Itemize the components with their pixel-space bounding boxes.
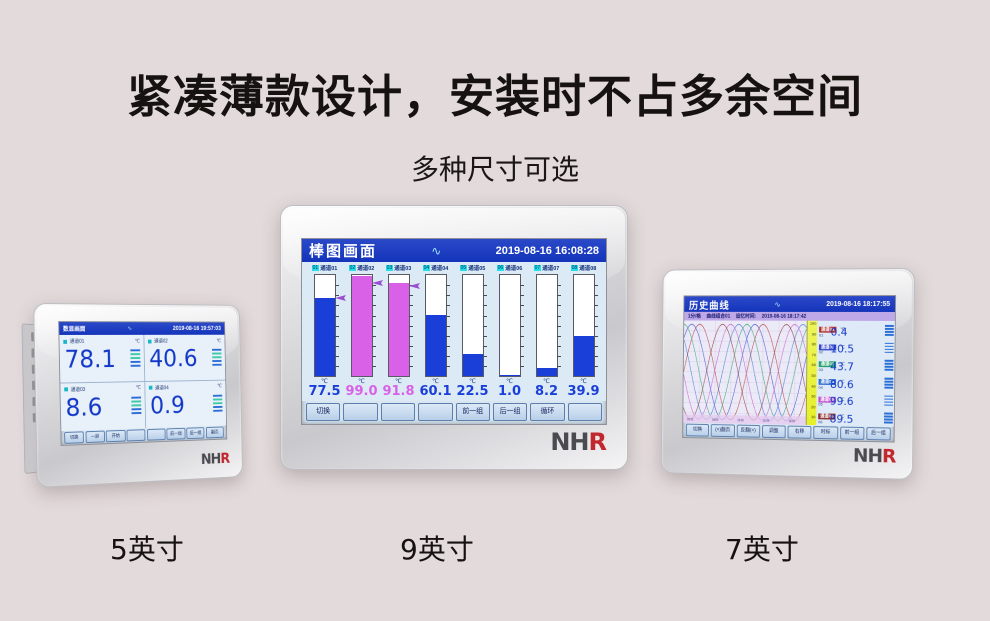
bar-fill — [389, 283, 409, 376]
bar-tube — [573, 274, 595, 377]
button-7inch-5[interactable]: 时标 — [813, 426, 837, 439]
button-5inch-3[interactable] — [127, 429, 146, 441]
bar-fill — [463, 354, 483, 377]
screen-title-7inch: 历史曲线 — [689, 297, 730, 312]
status-dot-icon — [148, 339, 152, 343]
bar-value: 99.0 — [345, 385, 377, 399]
bar-ticks — [409, 275, 417, 376]
brand-logo-9inch: NHR — [550, 428, 606, 456]
channel-name: 通道07 — [542, 264, 559, 272]
bar-value: 39.9 — [567, 385, 599, 399]
device-9inch-screen: 棒图画面 ∿ 2019-08-16 16:08:28 01通道01℃77.502… — [302, 239, 606, 424]
bar-ticks — [557, 275, 565, 376]
button-9inch-1[interactable] — [343, 403, 377, 421]
bar-value: 22.5 — [456, 385, 488, 399]
bar-tube — [388, 274, 410, 377]
channel-value: 0.4 — [831, 325, 848, 338]
button-9inch-7[interactable] — [568, 403, 602, 421]
button-9inch-0[interactable]: 切换 — [306, 403, 340, 421]
bar-header: 02通道02 — [343, 264, 380, 272]
status-dot-icon — [149, 386, 153, 390]
wave-logo-icon: ∿ — [377, 244, 496, 258]
page-headline: 紧凑薄款设计，安装时不占多余空间 — [0, 60, 990, 125]
y-tick-10: 10 — [811, 415, 815, 420]
digital-cell: 通道04℃0.9 — [145, 380, 226, 428]
datetime-5inch: 2019-08-16 19:57:03 — [173, 326, 221, 332]
bar-ticks — [594, 275, 602, 376]
digital-cell: 通道03℃8.6 — [60, 382, 146, 432]
bar-column: 07通道07℃8.2 — [528, 264, 565, 399]
digital-cell-header: 通道03℃ — [64, 385, 141, 393]
button-9inch-5[interactable]: 后一组 — [493, 403, 527, 421]
bar-tube — [462, 274, 484, 377]
button-9inch-6[interactable]: 循环 — [530, 403, 564, 421]
bar-column: 02通道02℃99.0 — [343, 264, 380, 399]
bar-tube — [314, 274, 336, 377]
channel-index: 03 — [819, 367, 823, 372]
button-5inch-7[interactable]: 翻页 — [206, 426, 224, 438]
bar-column: 03通道03℃91.8 — [380, 264, 417, 399]
curve-group-label: 曲线组合01 — [706, 313, 730, 320]
bar-header: 01通道01 — [306, 264, 343, 272]
bar-header: 07通道07 — [528, 264, 565, 272]
level-bars-icon — [131, 396, 141, 416]
bar-ticks — [446, 275, 454, 376]
channel-name: 通道04 — [431, 264, 448, 272]
titlebar-5inch: 数显画面 ∿ 2019-08-16 19:57:03 — [59, 322, 224, 335]
bar-ticks — [483, 275, 491, 376]
channel-index: 06 — [497, 265, 505, 271]
channel-index: 01 — [819, 332, 823, 337]
button-7inch-3[interactable]: 调整 — [762, 425, 786, 438]
brand-logo-7inch: NHR — [853, 445, 896, 468]
bar-fill — [574, 336, 594, 376]
bar-fill — [352, 276, 372, 376]
unit-label: ℃ — [135, 338, 140, 344]
bar-value: 91.8 — [382, 385, 414, 399]
button-5inch-4[interactable] — [147, 428, 166, 440]
channel-value: 10.5 — [830, 343, 854, 356]
y-tick-90: 90 — [812, 331, 816, 336]
wave-logo-icon: ∿ — [730, 300, 827, 309]
time-scale-label: 1分/格 — [688, 313, 701, 320]
y-tick-20: 20 — [811, 404, 815, 409]
button-7inch-2[interactable]: 反翻(×) — [736, 424, 760, 437]
device-7inch-screen: 历史曲线 ∿ 2019-08-16 18:17:55 1分/格 曲线组合01 追… — [683, 296, 895, 442]
bar-column: 06通道06℃1.0 — [491, 264, 528, 399]
bar-value: 77.5 — [308, 385, 340, 399]
unit-label: ℃ — [216, 338, 221, 344]
bar-column: 08通道08℃39.9 — [565, 264, 602, 399]
channel-row: 通道03℃0343.7 — [817, 356, 895, 374]
digital-cell: 通道02℃40.6 — [144, 335, 225, 382]
screen-title-9inch: 棒图画面 — [309, 240, 377, 261]
button-9inch-2[interactable] — [381, 403, 415, 421]
channel-name: 通道06 — [505, 264, 522, 272]
channel-value: 0.9 — [150, 392, 185, 417]
button-9inch-3[interactable] — [418, 403, 452, 421]
channel-index: 07 — [534, 265, 542, 271]
bar-fill — [426, 315, 446, 376]
button-7inch-0[interactable]: 切换 — [686, 423, 709, 436]
button-7inch-1[interactable]: (×)翻页 — [711, 424, 735, 437]
bar-ticks — [520, 275, 528, 376]
channel-index: 03 — [386, 265, 394, 271]
level-bars-icon — [884, 413, 893, 425]
digital-display-grid: 通道01℃78.1通道02℃40.6通道03℃8.6通道04℃0.9 — [59, 335, 226, 431]
bar-column: 04通道04℃60.1 — [417, 264, 454, 399]
button-5inch-2[interactable]: 开始 — [106, 430, 125, 442]
y-tick-80: 80 — [812, 342, 816, 347]
level-bars-icon — [885, 343, 894, 355]
channel-index: 02 — [819, 350, 823, 355]
device-5inch-screen: 数显画面 ∿ 2019-08-16 19:57:03 通道01℃78.1通道02… — [59, 322, 226, 445]
y-tick-40: 40 — [811, 383, 815, 388]
channel-index: 04 — [423, 265, 431, 271]
device-5inch: 数显画面 ∿ 2019-08-16 19:57:03 通道01℃78.1通道02… — [33, 303, 243, 488]
bar-column: 05通道05℃22.5 — [454, 264, 491, 399]
level-bars-icon — [885, 360, 894, 372]
caption-5inch: 5英寸 — [110, 528, 184, 568]
level-bars-icon — [130, 349, 140, 368]
bar-value: 60.1 — [419, 385, 451, 399]
channel-index: 05 — [460, 265, 468, 271]
channel-name: 通道03 — [394, 264, 411, 272]
recall-time: 2019-08-16 18:17:42 — [762, 313, 807, 319]
page-subheadline: 多种尺寸可选 — [0, 148, 990, 188]
bar-fill — [315, 298, 335, 377]
channel-index: 02 — [349, 265, 357, 271]
channel-value: 80.6 — [830, 378, 854, 391]
button-7inch-7[interactable]: 后一组 — [866, 427, 891, 440]
y-tick-30: 30 — [811, 394, 815, 399]
channel-value: 78.1 — [64, 347, 116, 372]
channel-row: 通道02℃0210.5 — [817, 338, 895, 356]
datetime-7inch: 2019-08-16 18:17:55 — [826, 301, 890, 308]
channel-index: 05 — [818, 402, 822, 407]
datetime-9inch: 2019-08-16 16:08:28 — [496, 245, 599, 257]
channel-index: 01 — [312, 265, 320, 271]
bar-ticks — [372, 275, 380, 376]
level-bars-icon — [885, 325, 894, 337]
level-bars-icon — [213, 394, 223, 413]
bar-header: 06通道06 — [491, 264, 528, 272]
channel-name: 通道04 — [155, 384, 169, 391]
bar-column: 01通道01℃77.5 — [306, 264, 343, 399]
level-bars-icon — [212, 349, 222, 368]
digital-cell-header: 通道04℃ — [149, 383, 222, 391]
channel-name: 通道03 — [71, 386, 86, 393]
y-tick-100: 100 — [810, 321, 816, 326]
y-tick-60: 60 — [812, 362, 816, 367]
recall-label: 追忆时间: — [736, 313, 756, 320]
bar-fill — [500, 375, 520, 376]
button-5inch-6[interactable]: 后一组 — [186, 427, 204, 439]
bar-value: 1.0 — [498, 385, 521, 399]
device-7inch: 历史曲线 ∿ 2019-08-16 18:17:55 1分/格 曲线组合01 追… — [661, 268, 915, 480]
unit-label: ℃ — [136, 385, 141, 391]
channel-name: 通道01 — [320, 264, 337, 272]
channel-row: 通道05℃0599.6 — [816, 390, 894, 409]
status-dot-icon — [63, 339, 67, 343]
status-dot-icon — [64, 387, 68, 391]
bar-fill — [537, 368, 557, 376]
bar-header: 04通道04 — [417, 264, 454, 272]
caption-9inch: 9英寸 — [400, 528, 474, 568]
channel-value: 8.6 — [65, 394, 102, 420]
y-tick-50: 50 — [811, 373, 815, 378]
digital-cell: 通道01℃78.1 — [59, 335, 145, 383]
titlebar-7inch: 历史曲线 ∿ 2019-08-16 18:17:55 — [684, 296, 895, 312]
button-7inch-4[interactable]: 右移 — [788, 425, 812, 438]
button-7inch-6[interactable]: 前一组 — [840, 426, 865, 439]
bar-tube — [536, 274, 558, 377]
bar-tube — [499, 274, 521, 377]
channel-row: 通道01℃010.4 — [817, 321, 895, 339]
channel-value: 40.6 — [149, 346, 198, 370]
bar-header: 05通道05 — [454, 264, 491, 272]
button-9inch-4[interactable]: 前一组 — [456, 403, 490, 421]
promo-stage: 紧凑薄款设计，安装时不占多余空间 多种尺寸可选 数显画面 ∿ 2019-08-1… — [0, 0, 990, 621]
button-5inch-0[interactable]: 切换 — [64, 431, 84, 444]
device-9inch: 棒图画面 ∿ 2019-08-16 16:08:28 01通道01℃77.502… — [280, 205, 628, 470]
screen-title-5inch: 数显画面 — [63, 324, 86, 333]
bar-chart: 01通道01℃77.502通道02℃99.003通道03℃91.804通道04℃… — [306, 264, 602, 399]
y-tick-70: 70 — [812, 352, 816, 357]
button-5inch-5[interactable]: 前一组 — [167, 428, 186, 440]
channel-value: 43.7 — [830, 360, 854, 373]
channel-row: 通道04℃0480.6 — [817, 373, 895, 391]
level-bars-icon — [884, 378, 893, 390]
channel-name: 通道05 — [468, 264, 485, 272]
brand-logo-5inch: NHR — [201, 450, 230, 468]
bar-header: 03通道03 — [380, 264, 417, 272]
channel-name: 通道02 — [357, 264, 374, 272]
button-5inch-1[interactable]: 一屏 — [85, 431, 105, 443]
bar-tube — [351, 274, 373, 377]
channel-index: 04 — [819, 384, 823, 389]
history-curve-plot: 18:1318:0918:0618:0518:02 — [683, 320, 811, 425]
channel-name: 通道08 — [579, 264, 596, 272]
titlebar-9inch: 棒图画面 ∿ 2019-08-16 16:08:28 — [302, 239, 606, 262]
level-bars-icon — [884, 395, 893, 407]
bar-chart-area: 01通道01℃77.502通道02℃99.003通道03℃91.804通道04℃… — [302, 262, 606, 401]
caption-7inch: 7英寸 — [725, 528, 799, 568]
button-bar-9inch[interactable]: 切换前一组后一组循环 — [302, 399, 606, 424]
channel-index: 08 — [571, 265, 579, 271]
unit-label: ℃ — [217, 383, 222, 389]
bar-tube — [425, 274, 447, 377]
bar-header: 08通道08 — [565, 264, 602, 272]
channel-value-list: 通道01℃010.4通道02℃0210.5通道03℃0343.7通道04℃048… — [816, 321, 895, 427]
channel-value: 99.6 — [830, 395, 854, 408]
bar-value: 8.2 — [535, 385, 558, 399]
wave-logo-icon: ∿ — [85, 325, 173, 332]
